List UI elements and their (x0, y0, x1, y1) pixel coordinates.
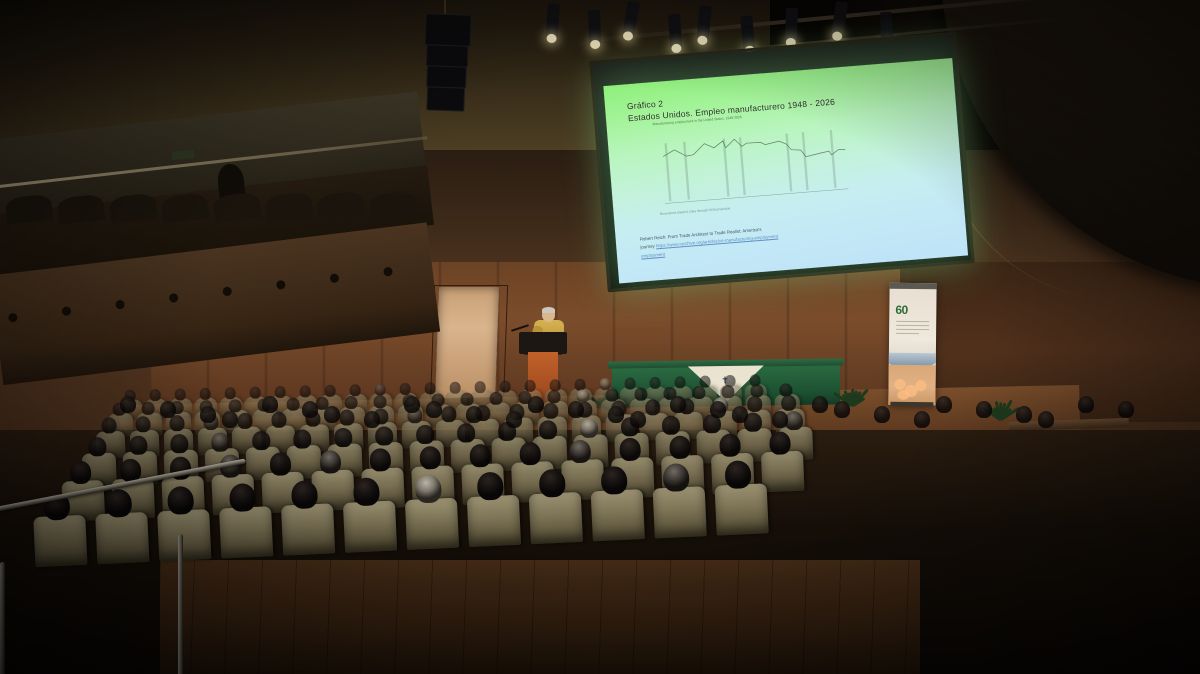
audience-head-back (160, 401, 176, 418)
par-can-light-icon (668, 14, 682, 49)
audience-head (374, 383, 386, 395)
auditorium-seat (591, 489, 645, 541)
audience-head-back (262, 396, 278, 413)
audience-head-back (608, 406, 624, 423)
stage-door-frame (430, 285, 508, 407)
auditorium-seat (405, 498, 459, 550)
audience-head-back (506, 411, 522, 428)
audience-head (747, 396, 763, 413)
auditorium-photo: Gráfico 2 Estados Unidos. Empleo manufac… (0, 0, 1200, 674)
audience-head-back (302, 401, 318, 418)
audience-head-back (1038, 411, 1054, 428)
audience-head-back (200, 406, 216, 423)
auditorium-seat (653, 486, 707, 538)
audience-head (293, 429, 311, 449)
audience-head (781, 395, 797, 412)
audience-head (441, 406, 457, 423)
presenter-hair (542, 307, 555, 313)
audience-head-back (528, 396, 544, 413)
audience-head (375, 426, 393, 446)
audience-head (461, 392, 474, 406)
audience-head (769, 432, 791, 456)
audience-head (269, 453, 291, 477)
audience-head-back (404, 396, 420, 413)
audience-head-back (222, 411, 238, 428)
audience-head (662, 415, 680, 435)
audience-head-back (710, 401, 726, 418)
audience-head-back (1078, 396, 1094, 413)
audience-head (237, 413, 253, 430)
audience-head-back (324, 406, 340, 423)
audience-head (271, 412, 287, 429)
audience-head (334, 428, 352, 448)
audience-head (669, 436, 691, 460)
audience-head-back (670, 396, 686, 413)
audience-head (674, 376, 686, 388)
roll-up-banner: 60 (888, 283, 936, 405)
auditorium-seat (281, 503, 335, 555)
audience-head (319, 450, 341, 474)
auditorium-seat (95, 512, 149, 564)
audience-head (474, 381, 486, 393)
auditorium-seat (219, 506, 273, 558)
audience-head-back (936, 396, 952, 413)
audience-head (580, 418, 598, 438)
audience-head-back (630, 411, 646, 428)
par-can-light-icon (785, 8, 798, 42)
audience-head (174, 388, 186, 400)
aisle-floor (160, 560, 920, 674)
audience-head (287, 397, 300, 411)
audience-head (499, 380, 511, 392)
audience-head (416, 425, 434, 445)
audience-head (120, 459, 142, 483)
audience-head-back (834, 401, 850, 418)
audience-head (135, 416, 151, 433)
audience-head-back (874, 406, 890, 423)
slide-chart-svg (653, 119, 854, 210)
banner-anniversary-logo: 60 (895, 303, 908, 317)
projection-screen: Gráfico 2 Estados Unidos. Empleo manufac… (589, 32, 974, 293)
audience-head-back (364, 411, 380, 428)
audience-head (519, 442, 541, 466)
par-can-light-icon (588, 10, 601, 44)
audience-head (249, 386, 261, 398)
screen-surface: Gráfico 2 Estados Unidos. Empleo manufac… (603, 58, 968, 283)
audience-head (149, 389, 161, 401)
audience-head (374, 395, 387, 409)
audience-head-back (568, 401, 584, 418)
audience-head (170, 457, 192, 481)
auditorium-seat (715, 483, 769, 535)
audience-head (170, 434, 188, 454)
audience-head (399, 382, 411, 394)
audience-head (524, 379, 536, 391)
auditorium-seat (529, 492, 583, 544)
audience-head-back (914, 411, 930, 428)
auditorium-seat (157, 509, 211, 561)
audience-head-back (426, 401, 442, 418)
audience-head (349, 384, 361, 396)
audience-head (548, 389, 561, 403)
banner-text-lines (896, 321, 929, 337)
audience-head (224, 387, 236, 399)
audience-head (339, 409, 355, 426)
audience-head (645, 399, 661, 416)
audience-head (692, 385, 705, 399)
banner-header-bar (890, 283, 937, 289)
audience-head (649, 376, 661, 388)
audience-head (419, 446, 441, 470)
audience-head (345, 395, 358, 409)
audience-head-back (732, 406, 748, 423)
line-array-speaker-icon (422, 13, 469, 110)
audience-head-back (772, 411, 788, 428)
slide-chart (653, 119, 854, 210)
lectern-top (519, 332, 567, 354)
audience-head (634, 387, 647, 401)
audience-head-back (120, 396, 136, 413)
audience-head (252, 431, 270, 451)
audience-head (457, 423, 475, 443)
audience-head (274, 386, 286, 398)
audience-head (88, 437, 106, 457)
auditorium-seat (343, 500, 397, 552)
audience-head (101, 417, 117, 434)
auditorium-seat (467, 495, 521, 547)
audience-head (169, 415, 185, 432)
banner-photo-graphic (888, 365, 935, 405)
audience-head (324, 384, 336, 396)
banner-base (890, 402, 933, 406)
audience-head (199, 387, 211, 399)
audience-head (424, 382, 436, 394)
audience-head (469, 444, 491, 468)
audience-head (129, 435, 147, 455)
audience-head (619, 438, 641, 462)
slide-source-line2: journey (640, 244, 655, 250)
audience-head (220, 455, 242, 479)
audience-head (299, 385, 311, 397)
slide-source-block: Robert Reich: From Trade Architect to Tr… (639, 216, 880, 260)
auditorium-seat (33, 515, 87, 567)
audience-head (449, 381, 461, 393)
audience-head-back (1016, 406, 1032, 423)
par-can-light-icon (546, 4, 560, 39)
audience-head (543, 403, 559, 420)
audience-head (569, 440, 591, 464)
audience-head (369, 448, 391, 472)
audience-head-back (976, 401, 992, 418)
audience-head (605, 388, 618, 402)
audience-head (70, 461, 92, 485)
audience-head (490, 391, 503, 405)
audience-head (624, 377, 636, 389)
audience-head-back (466, 406, 482, 423)
audience-head (539, 420, 557, 440)
audience-head-back (812, 396, 828, 413)
audience-head (142, 401, 155, 415)
audience-head-back (1118, 401, 1134, 418)
slide-title-block: Gráfico 2 Estados Unidos. Empleo manufac… (627, 76, 936, 125)
audience-head (211, 432, 229, 452)
audience-head (719, 434, 741, 458)
audience-head (721, 384, 734, 398)
